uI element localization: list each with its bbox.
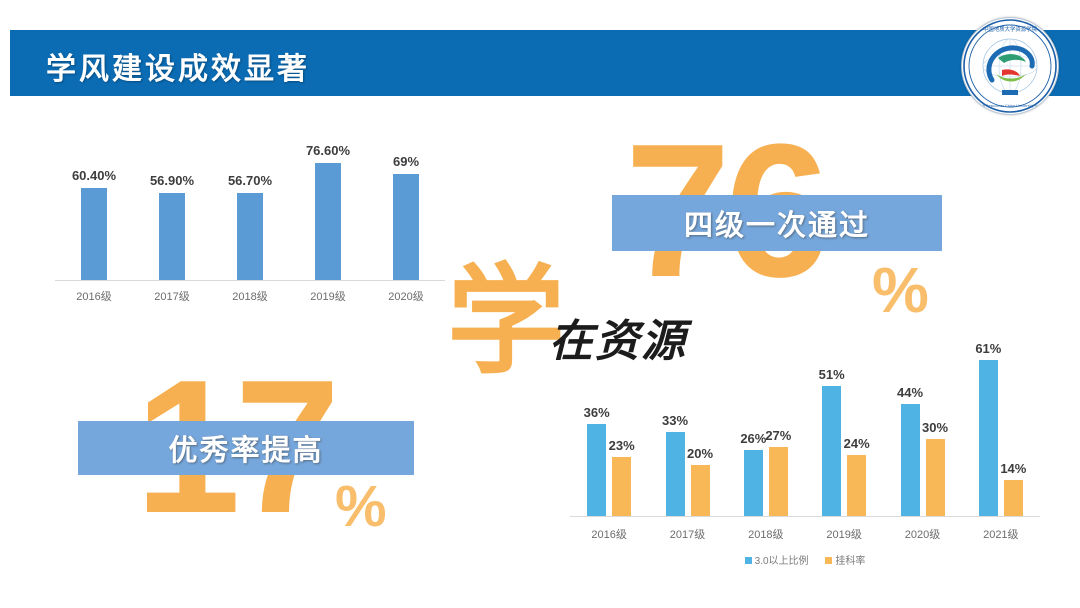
category-label-bottom-3: 2019级	[799, 526, 889, 542]
bar-value-label-bottom-s0-5: 61%	[961, 341, 1015, 356]
svg-text:School of Earth Resources Chi: School of Earth Resources China Universi…	[962, 104, 1058, 108]
bar-bottom-s1-5	[1004, 480, 1023, 516]
chart-cet-pass-rate: 60.40%2016级56.90%2017级56.70%2018级76.60%2…	[55, 130, 445, 305]
legend-label-0: 3.0以上比例	[755, 556, 809, 567]
calligraphy-xue: 学	[447, 262, 565, 380]
page-title: 学风建设成效显著	[46, 44, 310, 88]
category-label-bottom-4: 2020级	[878, 526, 968, 542]
stat-banner-label-17: 优秀率提高	[168, 427, 323, 469]
bar-value-label-bottom-s1-1: 20%	[673, 446, 727, 461]
chart-top-plot	[55, 130, 445, 280]
bar-bottom-s0-2	[744, 450, 763, 516]
university-emblem-logo: 中国地质大学资源学院 School of Earth Resources Chi…	[961, 17, 1059, 115]
legend-item-1: 挂科率	[825, 552, 865, 567]
stat-banner-label-76: 四级一次通过	[684, 202, 870, 244]
bar-bottom-s0-1	[666, 432, 685, 516]
bar-value-label-bottom-s0-4: 44%	[883, 385, 937, 400]
chart-bottom-plot	[570, 330, 1040, 516]
bar-top-1	[159, 193, 185, 280]
category-label-top-3: 2019级	[289, 288, 367, 304]
bar-value-label-bottom-s0-1: 33%	[648, 413, 702, 428]
bar-bottom-s1-4	[926, 439, 945, 516]
bar-top-0	[81, 188, 107, 280]
chart-gpa-vs-fail-rate: 3.0以上比例 挂科率 36%33%26%51%44%61%23%20%27%2…	[570, 330, 1040, 580]
svg-text:中国地质大学资源学院: 中国地质大学资源学院	[983, 25, 1038, 33]
chart-bottom-legend: 3.0以上比例 挂科率	[570, 552, 1040, 567]
category-label-bottom-5: 2021级	[956, 526, 1046, 542]
bar-bottom-s1-1	[691, 465, 710, 516]
bar-value-label-bottom-s1-2: 27%	[751, 428, 805, 443]
legend-label-1: 挂科率	[835, 556, 865, 567]
bar-bottom-s1-3	[847, 455, 866, 516]
bar-bottom-s1-0	[612, 457, 631, 516]
slide-canvas: 学风建设成效显著 中国地质大学资源学院 School of Earth Reso…	[0, 0, 1080, 608]
stat-percent-76: %	[872, 258, 927, 322]
legend-swatch-icon-1	[825, 557, 832, 564]
bar-value-label-bottom-s1-0: 23%	[595, 438, 649, 453]
bar-value-label-top-2: 56.70%	[211, 173, 289, 188]
bar-value-label-top-3: 76.60%	[289, 143, 367, 158]
legend-item-0: 3.0以上比例	[745, 552, 809, 567]
category-label-bottom-2: 2018级	[721, 526, 811, 542]
category-label-bottom-1: 2017级	[643, 526, 733, 542]
bar-value-label-bottom-s0-0: 36%	[570, 405, 624, 420]
category-label-top-2: 2018级	[211, 288, 289, 304]
stat-banner-17: 优秀率提高	[78, 421, 414, 475]
bar-bottom-s0-5	[979, 360, 998, 516]
chart-top-axis	[55, 280, 445, 281]
bar-value-label-top-0: 60.40%	[55, 168, 133, 183]
legend-swatch-icon-0	[745, 557, 752, 564]
category-label-top-1: 2017级	[133, 288, 211, 304]
bar-value-label-bottom-s1-4: 30%	[908, 420, 962, 435]
category-label-bottom-0: 2016级	[564, 526, 654, 542]
category-label-top-0: 2016级	[55, 288, 133, 304]
stat-percent-17: %	[335, 478, 385, 536]
category-label-top-4: 2020级	[367, 288, 445, 304]
stat-banner-76: 四级一次通过	[612, 195, 942, 251]
bar-value-label-top-1: 56.90%	[133, 173, 211, 188]
bar-value-label-bottom-s1-5: 14%	[986, 461, 1040, 476]
bar-value-label-top-4: 69%	[367, 154, 445, 169]
bar-value-label-bottom-s0-3: 51%	[805, 367, 859, 382]
chart-bottom-axis	[570, 516, 1040, 517]
bar-value-label-bottom-s1-3: 24%	[830, 436, 884, 451]
bar-top-3	[315, 163, 341, 280]
bar-top-2	[237, 193, 263, 280]
bar-top-4	[393, 174, 419, 280]
bar-bottom-s1-2	[769, 447, 788, 516]
bar-bottom-s0-3	[822, 386, 841, 516]
